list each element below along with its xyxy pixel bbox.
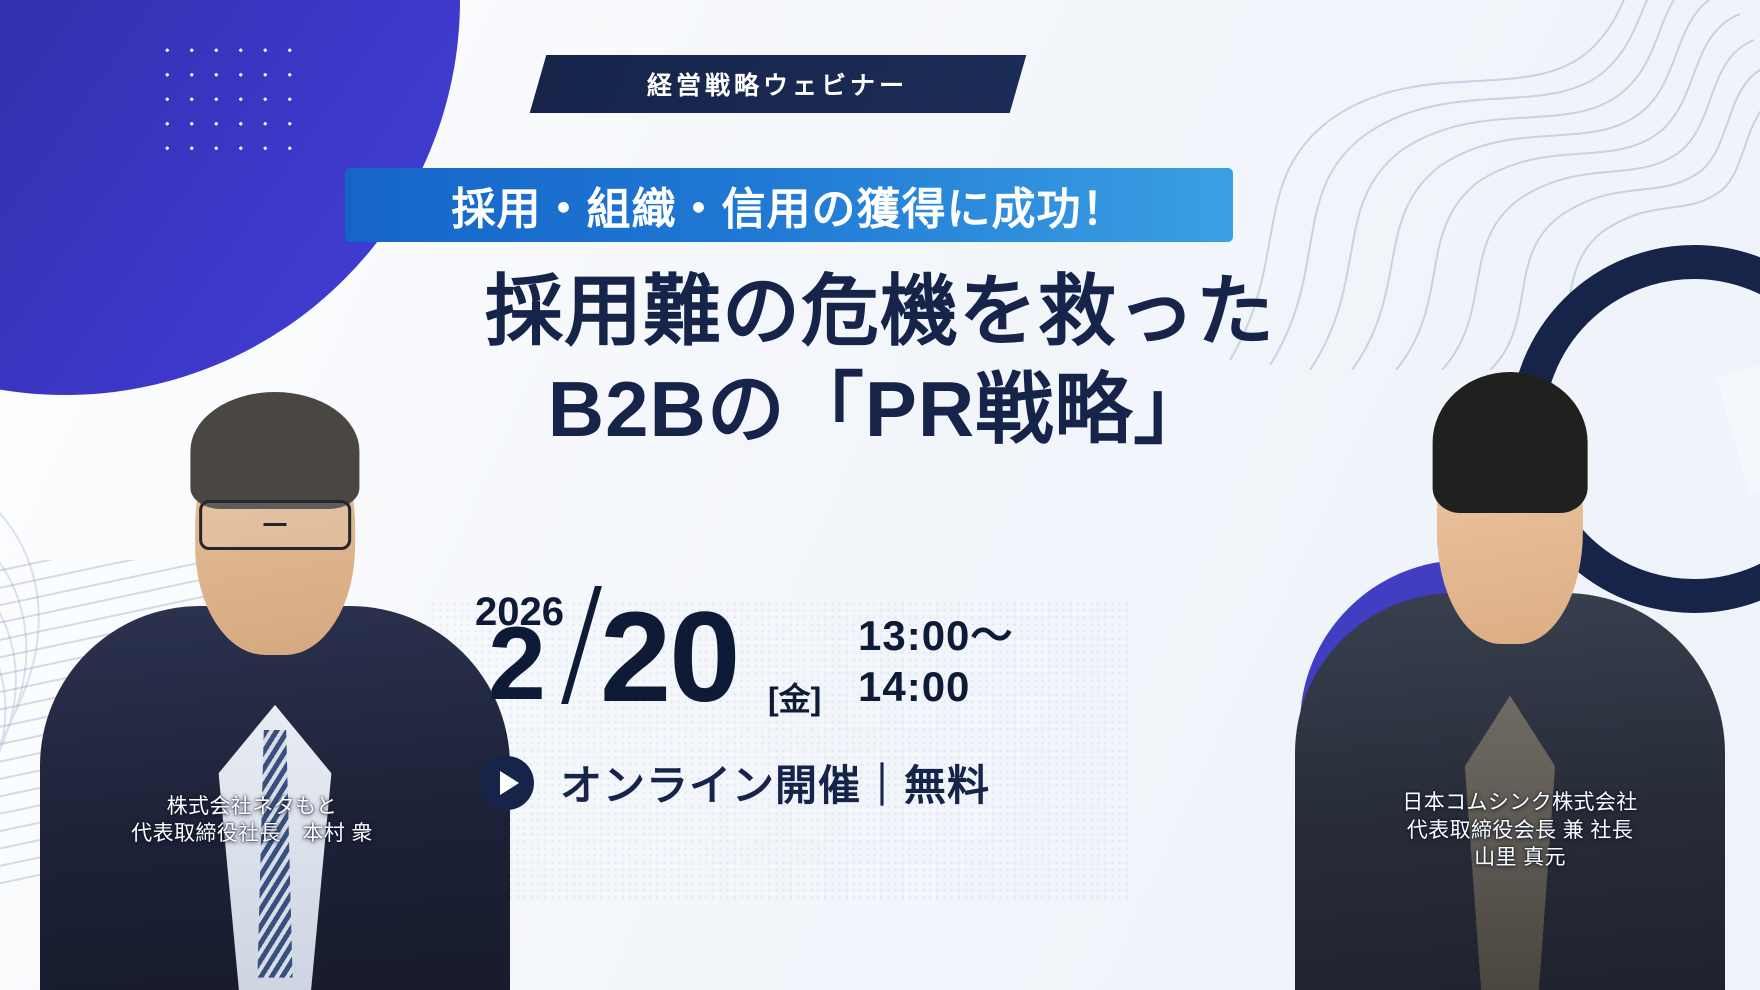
subtitle-text: 採用・組織・信用の獲得に成功！ — [452, 173, 1127, 237]
page-title: 採用難の危機を救った B2Bの「PR戦略」 — [0, 262, 1760, 459]
subtitle-band: 採用・組織・信用の獲得に成功！ — [345, 168, 1233, 242]
decorative-dot-grid — [155, 38, 305, 160]
headline-line-1: 採用難の危機を救った — [0, 262, 1760, 360]
event-month: 2 — [488, 612, 546, 716]
event-format-label: オンライン開催｜無料 — [560, 752, 990, 813]
event-weekday: [金] — [768, 674, 821, 720]
speaker-left-glasses — [199, 500, 351, 549]
speaker-photo-left — [40, 370, 510, 990]
headline-line-2: B2Bの「PR戦略」 — [0, 360, 1760, 458]
event-day: 20 — [600, 594, 738, 722]
event-time-start: 13:00〜 — [858, 610, 1013, 661]
speaker-caption-left: 株式会社ネタもと 代表取締役社長 本村 衆 — [52, 793, 452, 848]
event-date-block: 2026 2 20 [金] 13:00〜 14:00 — [470, 588, 1090, 738]
play-triangle — [500, 771, 519, 795]
speaker-left-portrait — [40, 370, 510, 990]
event-time: 13:00〜 14:00 — [858, 610, 1013, 712]
webinar-category-ribbon: 経営戦略ウェビナー — [530, 55, 1027, 113]
play-icon — [480, 756, 534, 810]
event-format-row: オンライン開催｜無料 — [480, 752, 990, 813]
webinar-banner: 株式会社ネタもと 代表取締役社長 本村 衆 日本コムシンク株式会社 代表取締役会… — [0, 0, 1760, 990]
event-time-end: 14:00 — [858, 661, 1013, 712]
ribbon-label: 経営戦略ウェビナー — [647, 66, 908, 102]
speaker-caption-right: 日本コムシンク株式会社 代表取締役会長 兼 社長 山里 真元 — [1320, 789, 1720, 872]
date-slash-divider — [561, 586, 602, 704]
